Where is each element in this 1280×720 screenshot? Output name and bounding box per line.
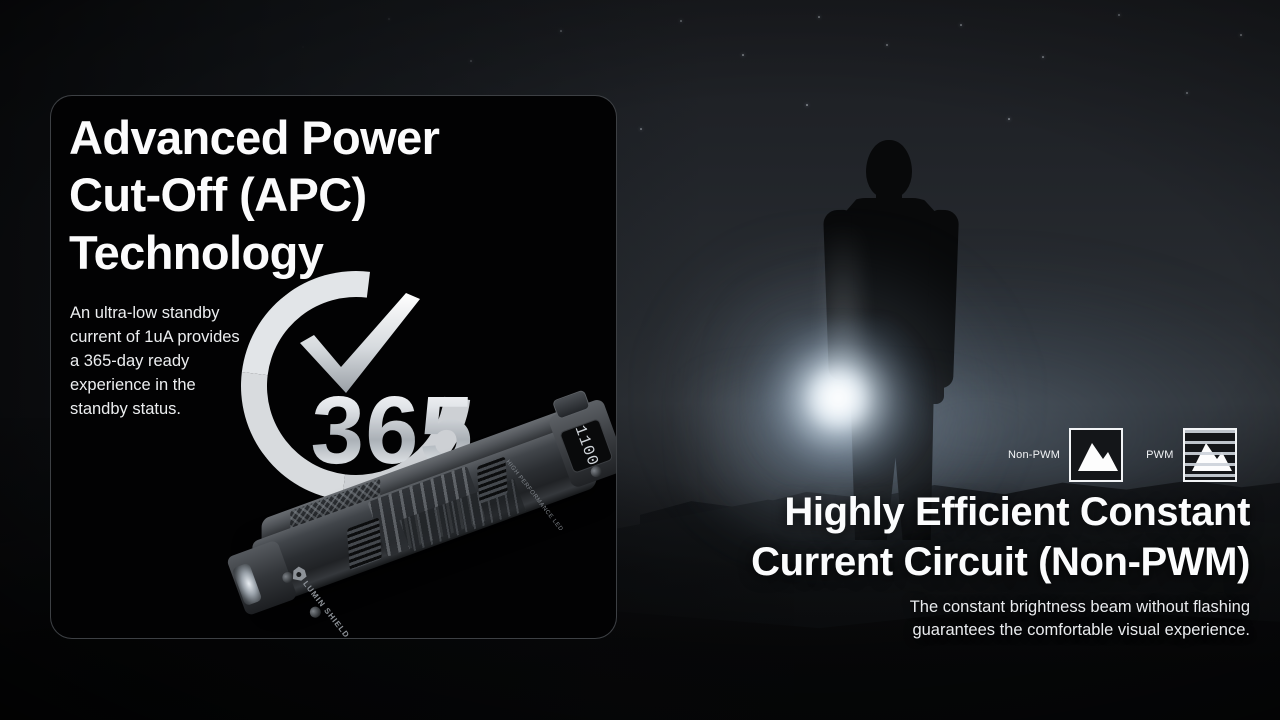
promo-banner: Advanced Power Cut-Off (APC) Technology …	[0, 0, 1280, 720]
right-subtitle: The constant brightness beam without fla…	[700, 596, 1250, 643]
pwm-comparison-row: Non-PWM PWM	[1008, 428, 1237, 482]
card-title: Advanced Power Cut-Off (APC) Technology	[69, 109, 539, 281]
right-headline: Highly Efficient Constant Current Circui…	[640, 488, 1250, 587]
non-pwm-preview[interactable]	[1069, 428, 1123, 482]
pwm-preview[interactable]	[1183, 428, 1237, 482]
card-body-text: An ultra-low standby current of 1uA prov…	[70, 301, 250, 421]
pwm-scanlines	[1185, 430, 1235, 480]
mountain-icon	[1078, 441, 1118, 471]
apc-feature-card: Advanced Power Cut-Off (APC) Technology …	[50, 95, 617, 639]
flashlight-display-value: 1100	[571, 423, 602, 469]
brand-logo-text: LUMIN SHIELD	[301, 579, 351, 639]
non-pwm-label: Non-PWM	[1008, 449, 1060, 461]
pwm-label: PWM	[1146, 449, 1173, 461]
